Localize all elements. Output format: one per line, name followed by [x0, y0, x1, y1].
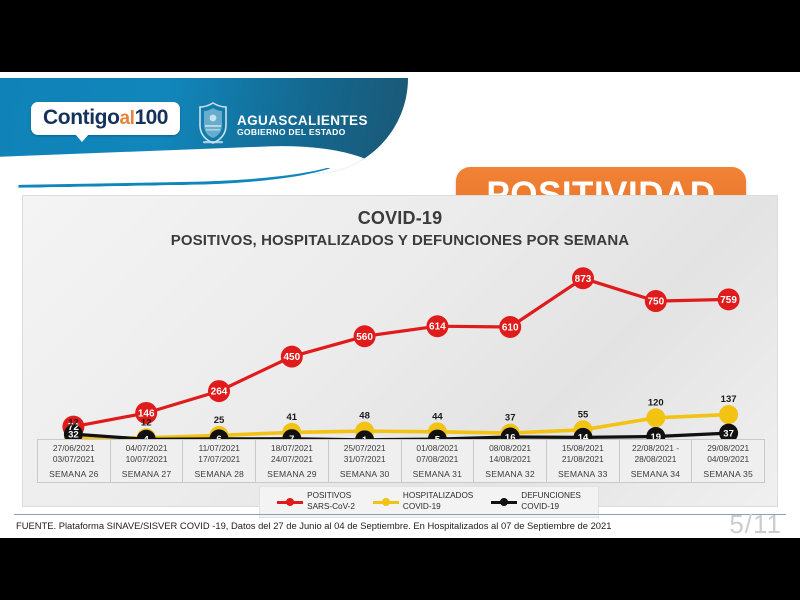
x-axis-date-range: 25/07/202131/07/2021	[344, 443, 386, 464]
chart-plot-area: 7214626445056061461087375075912122541484…	[37, 254, 765, 444]
logo-text-contigo: Contigo	[43, 106, 120, 130]
legend-label-hospitalizados: HOSPITALIZADOS	[403, 491, 473, 502]
x-axis-cell: 15/08/202121/08/2021SEMANA 33	[547, 440, 620, 482]
data-point-label: 560	[356, 332, 373, 343]
slide: Contigo al 100 AGUASCALIENTES GOBIERNO D…	[0, 72, 800, 538]
page-number: 5/11	[729, 509, 782, 540]
x-axis-date-range: 29/08/202104/09/2021	[707, 443, 749, 464]
contigo-al-100-logo[interactable]: Contigo al 100	[31, 102, 180, 135]
data-point-label: 614	[429, 322, 446, 333]
x-axis-cell: 08/08/202114/08/2021SEMANA 32	[474, 440, 547, 482]
x-axis-cell: 25/07/202131/07/2021SEMANA 30	[329, 440, 402, 482]
legend-item-positivos[interactable]: POSITIVOS SARS-CoV-2	[277, 491, 355, 512]
legend-label-defunciones: DEFUNCIONES	[521, 491, 581, 502]
x-axis-week-table: 27/06/202103/07/2021SEMANA 2604/07/20211…	[37, 439, 765, 483]
x-axis-date-range: 27/06/202103/07/2021	[53, 443, 95, 464]
footer-divider	[14, 514, 786, 515]
aguascalientes-crest-icon	[196, 101, 230, 150]
letterbox-top	[0, 0, 800, 72]
x-axis-week-label: SEMANA 29	[267, 469, 317, 479]
legend-item-defunciones[interactable]: DEFUNCIONES COVID-19	[491, 491, 581, 512]
series-positivos	[62, 267, 739, 437]
x-axis-week-label: SEMANA 27	[122, 469, 172, 479]
gov-subtitle: GOBIERNO DEL ESTADO	[237, 128, 368, 137]
x-axis-date-range: 15/08/202121/08/2021	[562, 443, 604, 464]
legend-label-positivos: POSITIVOS	[307, 491, 355, 502]
series-labels-positivos: 72146264450560614610873750759	[68, 274, 738, 433]
x-axis-week-label: SEMANA 28	[194, 469, 244, 479]
data-point-label: 750	[647, 297, 664, 308]
chart-title: COVID-19	[23, 208, 777, 229]
x-axis-week-label: SEMANA 26	[49, 469, 99, 479]
x-axis-date-range: 08/08/202114/08/2021	[489, 443, 531, 464]
x-axis-cell: 27/06/202103/07/2021SEMANA 26	[38, 440, 111, 482]
data-point-label: 55	[578, 409, 589, 420]
legend-marker-defunciones-icon	[491, 497, 517, 508]
x-axis-date-range: 11/07/202117/07/2021	[198, 443, 240, 464]
legend-item-hospitalizados[interactable]: HOSPITALIZADOS COVID-19	[373, 491, 473, 512]
slide-stage: Contigo al 100 AGUASCALIENTES GOBIERNO D…	[0, 0, 800, 600]
government-branding: AGUASCALIENTES GOBIERNO DEL ESTADO	[196, 101, 368, 150]
data-point-label: 44	[432, 411, 443, 422]
legend-marker-positivos-icon	[277, 497, 303, 508]
data-point-label: 25	[214, 415, 225, 426]
data-point-label: 120	[648, 397, 664, 408]
x-axis-cell: 04/07/202110/07/2021SEMANA 27	[111, 440, 184, 482]
data-point-label: 48	[359, 411, 370, 422]
data-point-label: 759	[720, 295, 737, 306]
x-axis-week-label: SEMANA 32	[485, 469, 535, 479]
data-point-label: 37	[505, 413, 516, 424]
data-point-label: 264	[211, 387, 228, 398]
x-axis-cell: 22/08/2021 -28/08/2021SEMANA 34	[620, 440, 693, 482]
logo-text-100: 100	[135, 106, 168, 130]
letterbox-bottom	[0, 538, 800, 600]
x-axis-date-range: 01/08/202107/08/2021	[416, 443, 458, 464]
x-axis-week-label: SEMANA 35	[703, 469, 753, 479]
footer-source-text: FUENTE. Plataforma SINAVE/SISVER COVID -…	[16, 520, 611, 531]
x-axis-cell: 29/08/202104/09/2021SEMANA 35	[692, 440, 764, 482]
chart-subtitle: POSITIVOS, HOSPITALIZADOS Y DEFUNCIONES …	[23, 232, 777, 249]
x-axis-week-label: SEMANA 31	[413, 469, 463, 479]
x-axis-week-label: SEMANA 34	[631, 469, 681, 479]
data-point-label: 12	[141, 417, 152, 428]
data-point-label: 37	[723, 428, 734, 439]
series-labels-hospitalizados: 1212254148443755120137	[68, 394, 736, 428]
x-axis-week-label: SEMANA 30	[340, 469, 390, 479]
legend-sublabel-positivos: SARS-CoV-2	[307, 502, 355, 513]
legend-marker-hospitalizados-icon	[373, 497, 399, 508]
data-point-label: 137	[721, 394, 737, 405]
data-point-label: 12	[68, 417, 79, 428]
legend-sublabel-hospitalizados: COVID-19	[403, 502, 473, 513]
x-axis-date-range: 18/07/202124/07/2021	[271, 443, 313, 464]
chart-panel: COVID-19 POSITIVOS, HOSPITALIZADOS Y DEF…	[22, 195, 778, 507]
data-point-label: 610	[502, 322, 519, 333]
data-point-label: 873	[575, 274, 592, 285]
x-axis-cell: 18/07/202124/07/2021SEMANA 29	[256, 440, 329, 482]
gov-title: AGUASCALIENTES	[237, 114, 368, 128]
header-swoosh-decoration	[0, 168, 330, 194]
line-chart-svg: 7214626445056061461087375075912122541484…	[37, 254, 765, 444]
x-axis-date-range: 04/07/202110/07/2021	[126, 443, 168, 464]
x-axis-cell: 11/07/202117/07/2021SEMANA 28	[183, 440, 256, 482]
x-axis-date-range: 22/08/2021 -28/08/2021	[632, 443, 679, 464]
x-axis-week-label: SEMANA 33	[558, 469, 608, 479]
data-point-label: 41	[287, 412, 298, 423]
data-point-label: 450	[283, 352, 300, 363]
legend-sublabel-defunciones: COVID-19	[521, 502, 581, 513]
logo-text-al: al	[120, 108, 135, 130]
x-axis-cell: 01/08/202107/08/2021SEMANA 31	[402, 440, 475, 482]
